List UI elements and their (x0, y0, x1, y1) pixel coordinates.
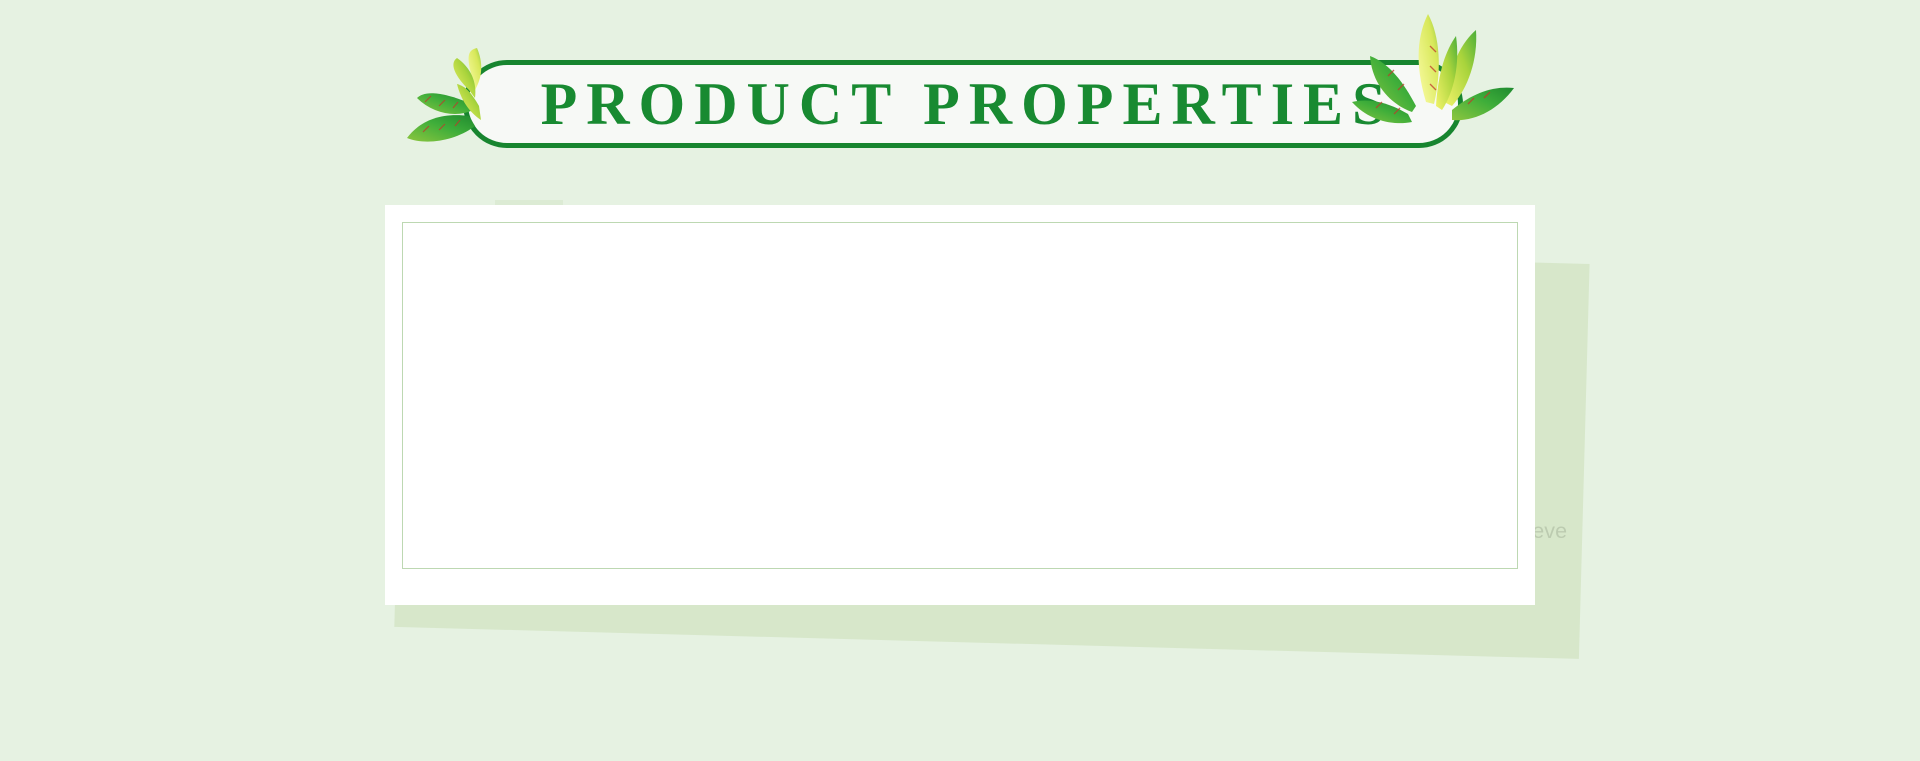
page-title: PRODUCT PROPERTIES (532, 74, 1395, 134)
product-properties-card (385, 205, 1535, 605)
card-inner-border (402, 222, 1518, 569)
title-banner: PRODUCT PROPERTIES (463, 60, 1463, 148)
card-top-artifact (495, 200, 563, 205)
